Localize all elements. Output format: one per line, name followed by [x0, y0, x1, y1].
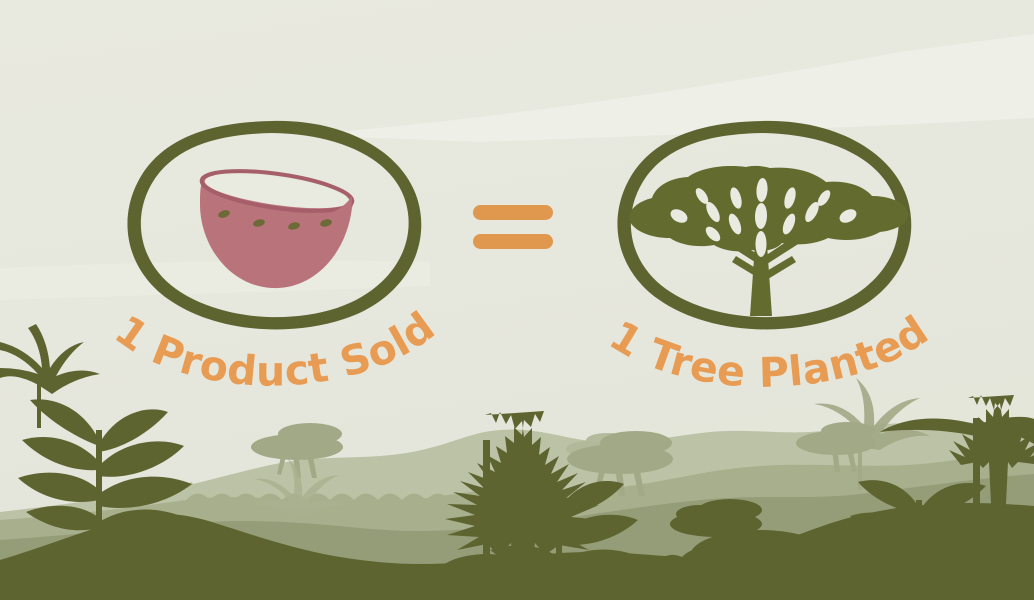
right-badge-group[interactable]: 1 Tree Planted — [0, 0, 1034, 600]
impact-infographic: 1 Product Sold — [0, 0, 1034, 600]
